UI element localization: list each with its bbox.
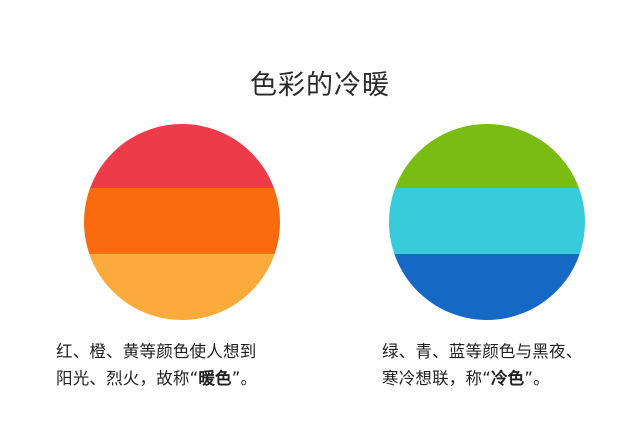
cool-caption-prefix: 寒冷想联，称“	[382, 369, 491, 388]
warm-caption-emphasis: 暖色	[198, 369, 231, 388]
cool-caption-line-2: 寒冷想联，称“冷色”。	[382, 365, 632, 392]
warm-caption-prefix: 阳光、烈火，故称“	[56, 369, 198, 388]
cool-caption-emphasis: 冷色	[491, 369, 524, 388]
swatch-blue	[389, 254, 585, 320]
swatch-red	[84, 124, 280, 188]
page-title: 色彩的冷暖	[0, 68, 640, 104]
warm-caption-suffix: ”。	[232, 369, 257, 388]
swatch-green	[389, 124, 585, 188]
warm-color-circle	[84, 124, 280, 320]
swatch-yellow	[84, 254, 280, 320]
warm-caption-line-2: 阳光、烈火，故称“暖色”。	[56, 365, 306, 392]
cool-color-circle	[389, 124, 585, 320]
diagram-canvas: 色彩的冷暖 红、橙、黄等颜色使人想到 阳光、烈火，故称“暖色”。 绿、青、蓝等颜…	[0, 0, 640, 424]
warm-colors-caption: 红、橙、黄等颜色使人想到 阳光、烈火，故称“暖色”。	[56, 338, 306, 392]
cool-colors-caption: 绿、青、蓝等颜色与黑夜、 寒冷想联，称“冷色”。	[382, 338, 632, 392]
swatch-cyan	[389, 188, 585, 254]
cool-caption-line-1: 绿、青、蓝等颜色与黑夜、	[382, 338, 632, 365]
warm-caption-line-1: 红、橙、黄等颜色使人想到	[56, 338, 306, 365]
swatch-orange	[84, 188, 280, 254]
cool-caption-suffix: ”。	[524, 369, 549, 388]
